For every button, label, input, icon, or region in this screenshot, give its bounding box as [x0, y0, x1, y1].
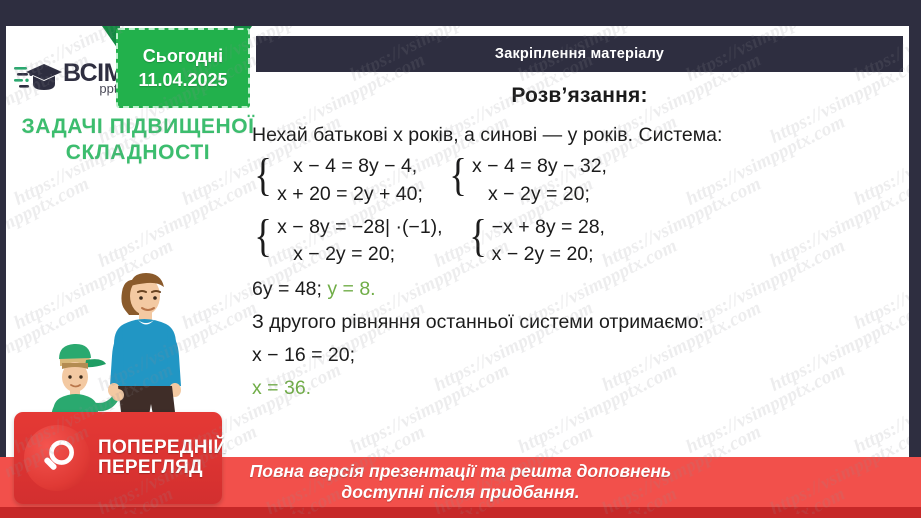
promo-banner-strip	[0, 507, 921, 518]
page-title: ЗАДАЧІ ПІДВИЩЕНОЇ СКЛАДНОСТІ	[14, 114, 262, 165]
section-header-title: Закріплення матеріалу	[495, 46, 664, 62]
watermark-text: https://vsimppptx.com	[6, 235, 9, 334]
date-badge-label: Сьогодні	[143, 46, 223, 67]
system-2-left-eq-2: x − 2y = 20;	[277, 241, 442, 269]
solution-content: Розв’язання: Нехай батькові x років, а с…	[252, 84, 907, 401]
preview-badge-line-1: ПОПЕРЕДНІЙ	[98, 438, 227, 458]
system-2-right-eq-2: x − 2y = 20;	[492, 241, 605, 269]
system-2-left-eq-1: x − 8y = −28| ·(−1),	[277, 214, 442, 242]
preview-badge[interactable]: ПОПЕРЕДНІЙ ПЕРЕГЛЯД	[14, 412, 222, 504]
system-1-left: { x − 4 = 8y − 4, x + 20 = 2y + 40;	[252, 153, 423, 208]
system-2-left: { x − 8y = −28| ·(−1), x − 2y = 20;	[252, 214, 443, 269]
solution-intro: Нехай батькові x років, а синові — y рок…	[252, 122, 907, 148]
graduation-cap-icon	[14, 58, 62, 98]
system-1-right-eq-2: x − 2y = 20;	[472, 181, 607, 209]
preview-badge-line-2: ПЕРЕГЛЯД	[98, 458, 227, 478]
date-badge-value: 11.04.2025	[138, 70, 227, 91]
equation-system-2: { x − 8y = −28| ·(−1), x − 2y = 20; { −x…	[252, 214, 907, 269]
equation-system-1: { x − 4 = 8y − 4, x + 20 = 2y + 40; { x …	[252, 153, 907, 208]
solution-step-x: x − 16 = 20;	[252, 342, 907, 368]
brace-icon: {	[254, 214, 272, 269]
watermark-text: https://vsimppptx.com	[6, 359, 9, 458]
step-sum-result: y = 8.	[327, 278, 375, 300]
solution-step-text: З другого рівняння останньої системи отр…	[252, 309, 907, 335]
solution-step-x-result: x = 36.	[252, 375, 907, 401]
solution-step-sum: 6y = 48; y = 8.	[252, 276, 907, 302]
system-1-right-eq-1: x − 4 = 8y − 32,	[472, 153, 607, 181]
system-1-left-eq-1: x − 4 = 8y − 4,	[277, 153, 423, 181]
brand-logo: ВСІМ pptx	[14, 54, 120, 102]
magnifier-icon	[24, 425, 90, 491]
promo-banner-line-2: доступні після придбання.	[341, 483, 579, 503]
system-2-right: { −x + 8y = 28, x − 2y = 20;	[467, 214, 605, 269]
system-1-left-eq-2: x + 20 = 2y + 40;	[277, 181, 423, 209]
solution-heading: Розв’язання:	[252, 84, 907, 108]
watermark-text: https://vsimppptx.com	[6, 111, 9, 210]
brace-icon: {	[449, 153, 467, 208]
watermark-text: https://vsimppptx.com	[6, 26, 9, 87]
date-badge: Сьогодні 11.04.2025	[116, 28, 250, 108]
system-2-right-eq-1: −x + 8y = 28,	[492, 214, 605, 242]
promo-banner-line-1: Повна версія презентації та решта доповн…	[250, 462, 672, 482]
brace-icon: {	[254, 153, 272, 208]
system-1-right: { x − 4 = 8y − 32, x − 2y = 20;	[447, 153, 607, 208]
section-header-bar: Закріплення матеріалу	[256, 36, 903, 72]
step-sum-expression: 6y = 48;	[252, 278, 322, 300]
slide-viewer: ВСІМ pptx Сьогодні 11.04.2025 ЗАДАЧІ ПІД…	[0, 0, 921, 518]
brace-icon: {	[469, 214, 487, 269]
